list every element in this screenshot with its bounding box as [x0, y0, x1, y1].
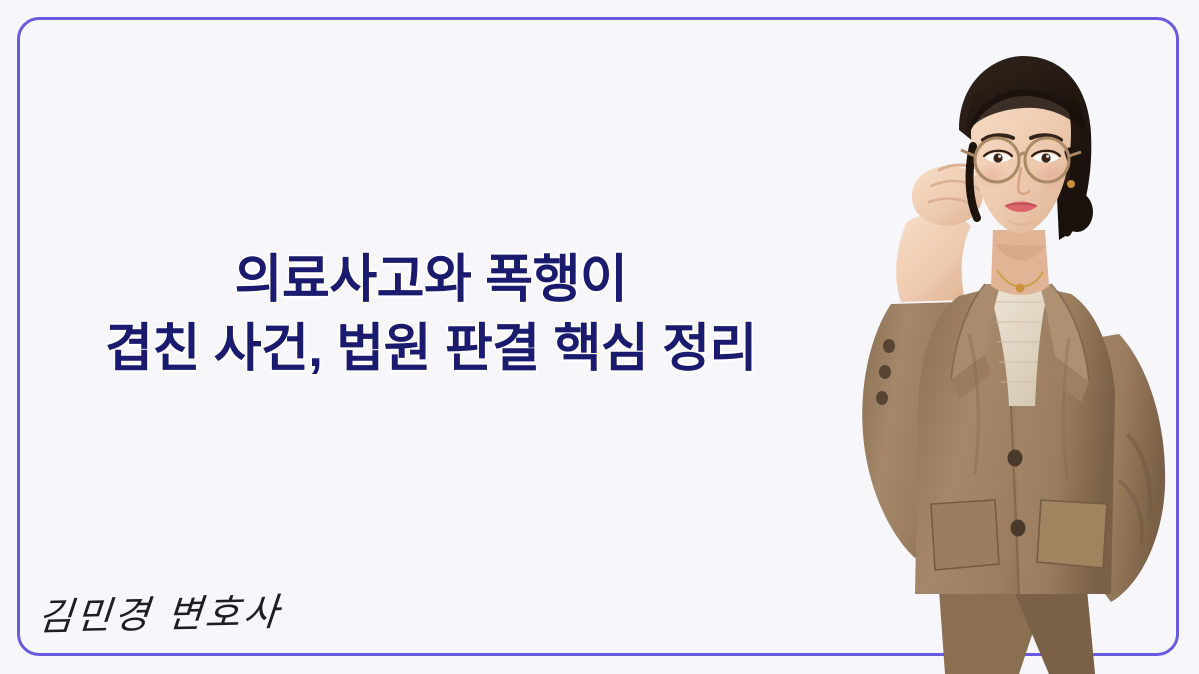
title-line-2: 겹친 사건, 법원 판결 핵심 정리	[0, 315, 862, 384]
page-title: 의료사고와 폭행이 겹친 사건, 법원 판결 핵심 정리	[0, 246, 862, 383]
portrait-photo	[819, 34, 1199, 674]
signature-lawyer-name: 김민경 변호사	[36, 581, 284, 641]
title-line-1: 의료사고와 폭행이	[0, 246, 862, 315]
poster-canvas: 의료사고와 폭행이 겹친 사건, 법원 판결 핵심 정리 김민경 변호사	[0, 0, 1199, 674]
